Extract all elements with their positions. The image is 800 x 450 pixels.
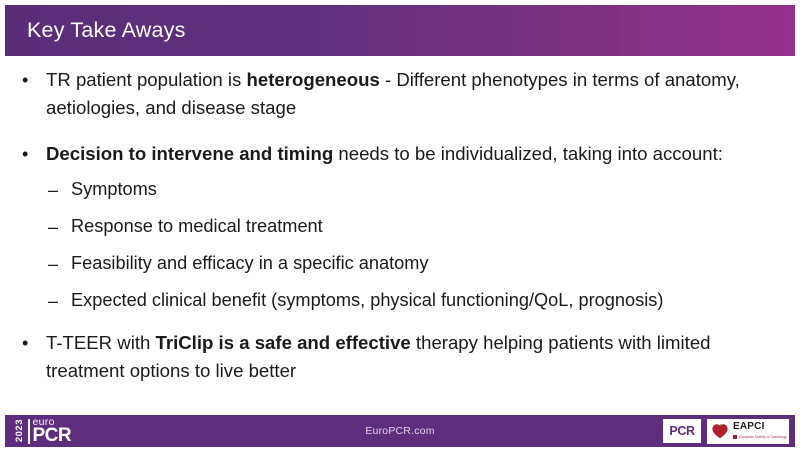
- pcr-logo-label: PCR: [669, 424, 694, 438]
- sub-bullet-item: –Feasibility and efficacy in a specific …: [0, 250, 800, 278]
- sub-bullet-item: –Symptoms: [0, 176, 800, 204]
- sub-bullet-item: –Response to medical treatment: [0, 213, 800, 241]
- heart-icon: [711, 422, 729, 440]
- footer-logos: PCR EAPCI European Society of Cardiology: [663, 418, 789, 444]
- bullet-text: Expected clinical benefit (symptoms, phy…: [71, 287, 780, 314]
- page-title: Key Take Aways: [27, 18, 186, 43]
- eapci-logo-subtitle-row: European Society of Cardiology: [733, 434, 787, 439]
- footer-website-label: EuroPCR.com: [365, 425, 434, 437]
- eapci-logo-subtitle: European Society of Cardiology: [739, 436, 787, 439]
- bullet-item: •TR patient population is heterogeneous …: [0, 66, 800, 122]
- esc-mark-icon: [733, 435, 737, 439]
- pcr-logo: PCR: [663, 419, 701, 443]
- bullet-text-run: T-TEER with: [46, 332, 156, 353]
- bullet-text-emphasis: Decision to intervene and timing: [46, 143, 333, 164]
- bullet-marker-icon: •: [22, 66, 46, 94]
- slide: Key Take Aways •TR patient population is…: [0, 0, 800, 450]
- bullet-text-run: needs to be individualized, taking into …: [333, 143, 723, 164]
- bullet-marker-icon: •: [22, 140, 46, 168]
- bullet-text: T-TEER with TriClip is a safe and effect…: [46, 329, 780, 385]
- bullet-item: •Decision to intervene and timing needs …: [0, 140, 800, 168]
- dash-marker-icon: –: [48, 213, 71, 241]
- dash-marker-icon: –: [48, 250, 71, 278]
- bullet-text: Decision to intervene and timing needs t…: [46, 140, 780, 168]
- bullet-text: Feasibility and efficacy in a specific a…: [71, 250, 780, 277]
- bullet-text: Response to medical treatment: [71, 213, 780, 240]
- dash-marker-icon: –: [48, 176, 71, 204]
- slide-footer: 2023 euro PCR EuroPCR.com PCR: [5, 415, 795, 447]
- bullet-text-emphasis: TriClip is a safe and effective: [156, 332, 411, 353]
- eapci-logo-text: EAPCI European Society of Cardiology: [733, 422, 787, 439]
- sub-bullet-item: –Expected clinical benefit (symptoms, ph…: [0, 287, 800, 315]
- eapci-logo: EAPCI European Society of Cardiology: [707, 419, 789, 444]
- bullet-text: TR patient population is heterogeneous -…: [46, 66, 780, 122]
- slide-title-bar: Key Take Aways: [5, 5, 795, 56]
- dash-marker-icon: –: [48, 287, 71, 315]
- eapci-logo-name: EAPCI: [733, 422, 787, 432]
- bullet-marker-icon: •: [22, 329, 46, 357]
- bullet-text-run: Response to medical treatment: [71, 216, 323, 236]
- bullet-item: •T-TEER with TriClip is a safe and effec…: [0, 329, 800, 385]
- bullet-text-run: Symptoms: [71, 179, 157, 199]
- slide-body: •TR patient population is heterogeneous …: [0, 62, 800, 412]
- bullet-text-run: Expected clinical benefit (symptoms, phy…: [71, 290, 663, 310]
- bullet-text-emphasis: heterogeneous: [247, 69, 380, 90]
- bullet-text-run: Feasibility and efficacy in a specific a…: [71, 253, 429, 273]
- bullet-text: Symptoms: [71, 176, 780, 203]
- bullet-text-run: TR patient population is: [46, 69, 247, 90]
